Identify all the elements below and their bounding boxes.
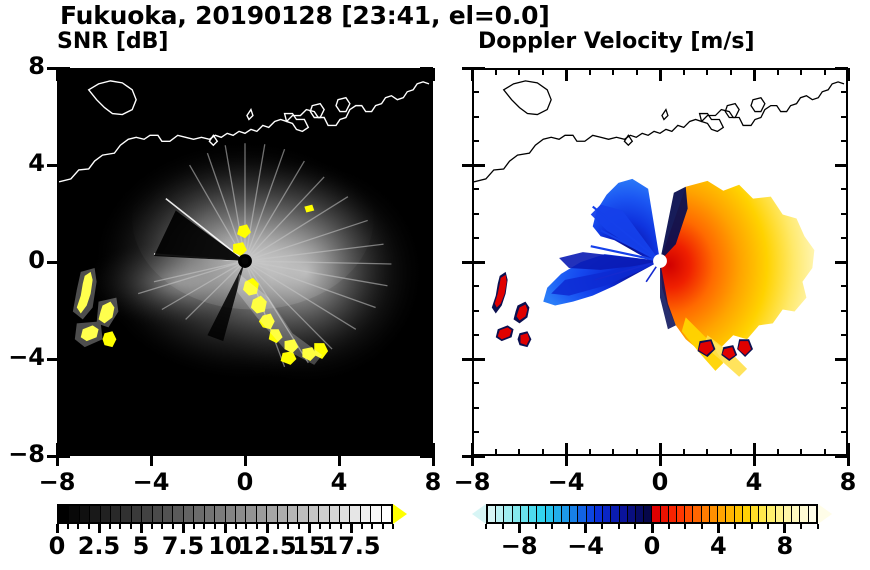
- y-tick: [472, 116, 479, 118]
- snr-colorbar-cell: [330, 506, 340, 522]
- y-tick: [426, 382, 433, 384]
- snr-colorbar-tick: [245, 524, 247, 529]
- x-tick: [824, 449, 826, 456]
- y-tick: [420, 261, 433, 264]
- x-tick: [730, 449, 732, 456]
- doppler-colorbar-cell: [685, 506, 693, 522]
- doppler-colorbar-cell: [644, 506, 652, 522]
- x-tick-outer: [847, 456, 850, 466]
- x-tick: [706, 449, 708, 456]
- snr-colorbar-tick: [151, 524, 153, 529]
- x-tick: [683, 68, 685, 75]
- x-tick-outer: [150, 456, 153, 466]
- y-axis-tick-label: −8: [0, 440, 45, 468]
- snr-colorbar-tick: [119, 524, 121, 529]
- x-tick: [80, 68, 82, 75]
- doppler-colorbar-label: 8: [745, 532, 825, 560]
- y-tick: [57, 91, 64, 93]
- y-tick-outer: [47, 67, 57, 70]
- x-tick: [706, 68, 708, 75]
- doppler-colorbar-cell: [800, 506, 808, 522]
- snr-colorbar-cell: [319, 506, 329, 522]
- y-tick: [841, 188, 848, 190]
- x-axis-tick-label: −8: [17, 468, 97, 496]
- doppler-colorbar-cell: [595, 506, 603, 522]
- x-axis-tick-label: 0: [620, 468, 700, 496]
- y-tick: [420, 358, 433, 361]
- x-tick: [589, 68, 591, 75]
- snr-colorbar-tick: [161, 524, 163, 529]
- snr-colorbar-cell: [184, 506, 194, 522]
- x-tick: [777, 68, 779, 75]
- snr-colorbar-cell: [350, 506, 360, 522]
- y-tick: [835, 67, 848, 70]
- doppler-colorbar-tick: [800, 524, 802, 529]
- y-axis-tick-label: −4: [0, 343, 45, 371]
- y-tick: [57, 261, 70, 264]
- doppler-colorbar-cell: [784, 506, 792, 522]
- y-tick: [57, 334, 64, 336]
- x-tick: [565, 443, 568, 456]
- y-axis-tick-label: 8: [0, 52, 45, 80]
- doppler-colorbar-cell: [726, 506, 734, 522]
- snr-colorbar-cell: [121, 506, 131, 522]
- x-tick-outer: [471, 456, 474, 466]
- snr-colorbar-cell: [163, 506, 173, 522]
- x-tick: [221, 449, 223, 456]
- x-axis-tick-label: 8: [808, 468, 870, 496]
- snr-colorbar-tick: [77, 524, 79, 529]
- x-tick: [800, 449, 802, 456]
- snr-radar-image: [59, 70, 431, 454]
- x-tick-outer: [56, 456, 59, 466]
- doppler-colorbar-cell: [636, 506, 644, 522]
- doppler-plot-area[interactable]: [472, 68, 848, 456]
- x-tick: [659, 68, 662, 81]
- x-axis-tick-label: −8: [432, 468, 512, 496]
- snr-colorbar-cell: [215, 506, 225, 522]
- snr-colorbar-cell: [236, 506, 246, 522]
- y-tick: [57, 285, 64, 287]
- x-tick: [385, 449, 387, 456]
- y-tick: [426, 91, 433, 93]
- doppler-colorbar-cell: [537, 506, 545, 522]
- doppler-colorbar-cell: [562, 506, 570, 522]
- x-tick: [612, 449, 614, 456]
- snr-colorbar-tick: [392, 524, 394, 529]
- y-tick: [420, 164, 433, 167]
- doppler-colorbar-cell: [735, 506, 743, 522]
- doppler-colorbar-cell: [546, 506, 554, 522]
- snr-colorbar-tick: [329, 524, 331, 529]
- doppler-colorbar-tick: [502, 524, 504, 529]
- doppler-colorbar-tick: [817, 524, 819, 529]
- x-tick-outer: [432, 456, 435, 466]
- snr-colorbar-cell: [142, 506, 152, 522]
- doppler-colorbar-tick: [551, 524, 553, 529]
- x-tick: [659, 443, 662, 456]
- snr-colorbar-tick: [235, 524, 237, 529]
- doppler-colorbar-cell: [578, 506, 586, 522]
- x-tick: [174, 449, 176, 456]
- x-tick: [127, 68, 129, 75]
- x-tick: [542, 449, 544, 456]
- x-tick: [291, 68, 293, 75]
- snr-plot-area[interactable]: [57, 68, 433, 456]
- y-tick: [57, 455, 70, 458]
- snr-colorbar-cell: [288, 506, 298, 522]
- x-tick: [518, 68, 520, 75]
- y-tick: [57, 213, 64, 215]
- x-tick: [291, 449, 293, 456]
- x-tick: [244, 68, 247, 81]
- x-tick: [268, 449, 270, 456]
- y-tick: [841, 285, 848, 287]
- x-tick: [683, 449, 685, 456]
- x-tick: [197, 449, 199, 456]
- y-tick: [57, 431, 64, 433]
- y-tick: [426, 140, 433, 142]
- x-tick: [150, 443, 153, 456]
- y-tick: [841, 310, 848, 312]
- doppler-colorbar-cell: [669, 506, 677, 522]
- y-tick: [472, 140, 479, 142]
- x-axis-tick-label: −4: [111, 468, 191, 496]
- y-tick: [472, 261, 485, 264]
- x-tick: [753, 68, 756, 81]
- y-tick: [57, 188, 64, 190]
- x-tick: [409, 68, 411, 75]
- snr-colorbar-cell: [101, 506, 111, 522]
- doppler-colorbar-cell: [504, 506, 512, 522]
- doppler-colorbar-cell: [661, 506, 669, 522]
- y-tick: [841, 382, 848, 384]
- x-tick: [753, 443, 756, 456]
- y-tick-outer: [462, 455, 472, 458]
- snr-panel-title: SNR [dB]: [57, 29, 168, 54]
- x-tick-outer: [753, 456, 756, 466]
- doppler-colorbar-tick: [601, 524, 603, 529]
- doppler-colorbar-under-arrow: [472, 504, 486, 524]
- x-tick: [636, 449, 638, 456]
- doppler-colorbar-tick: [485, 524, 487, 529]
- y-tick: [472, 407, 479, 409]
- y-tick-outer: [462, 164, 472, 167]
- y-tick: [57, 164, 70, 167]
- x-tick-outer: [565, 456, 568, 466]
- doppler-colorbar-cell: [628, 506, 636, 522]
- doppler-colorbar-cell: [529, 506, 537, 522]
- snr-colorbar[interactable]: [57, 504, 405, 524]
- x-tick: [244, 443, 247, 456]
- x-tick: [824, 68, 826, 75]
- y-tick-outer: [462, 67, 472, 70]
- y-tick: [426, 285, 433, 287]
- x-tick: [103, 449, 105, 456]
- y-tick: [841, 237, 848, 239]
- snr-colorbar-cell: [80, 506, 90, 522]
- y-tick: [472, 285, 479, 287]
- y-tick: [426, 334, 433, 336]
- x-tick: [56, 68, 59, 81]
- y-tick: [835, 358, 848, 361]
- x-tick: [315, 68, 317, 75]
- snr-colorbar-tick: [319, 524, 321, 529]
- snr-colorbar-label: 17.5: [311, 532, 391, 560]
- snr-colorbar-tick: [172, 524, 174, 529]
- snr-colorbar-tick: [287, 524, 289, 529]
- x-tick: [847, 68, 850, 81]
- doppler-colorbar-cell: [611, 506, 619, 522]
- x-tick: [542, 68, 544, 75]
- doppler-colorbar-cell: [792, 506, 800, 522]
- y-tick: [472, 334, 479, 336]
- snr-colorbar-tick: [130, 524, 132, 529]
- y-tick: [426, 431, 433, 433]
- x-tick: [589, 449, 591, 456]
- snr-colorbar-tick: [256, 524, 258, 529]
- y-tick: [841, 116, 848, 118]
- y-tick: [426, 237, 433, 239]
- doppler-colorbar-cell: [652, 506, 660, 522]
- snr-colorbar-cell: [257, 506, 267, 522]
- x-axis-tick-label: −4: [526, 468, 606, 496]
- snr-colorbar-cell: [90, 506, 100, 522]
- x-axis-tick-label: 4: [714, 468, 794, 496]
- y-tick-outer: [47, 164, 57, 167]
- snr-colorbar-cell: [278, 506, 288, 522]
- x-tick: [197, 68, 199, 75]
- doppler-colorbar-cell: [513, 506, 521, 522]
- doppler-colorbar-cell: [677, 506, 685, 522]
- y-tick: [472, 310, 479, 312]
- x-tick: [315, 449, 317, 456]
- snr-colorbar-cell: [246, 506, 256, 522]
- snr-colorbar-cell: [267, 506, 277, 522]
- doppler-colorbar-cell: [570, 506, 578, 522]
- doppler-colorbar-cell: [693, 506, 701, 522]
- page-title: Fukuoka, 20190128 [23:41, el=0.0]: [60, 1, 550, 30]
- snr-colorbar-tick: [298, 524, 300, 529]
- doppler-colorbar-cell: [554, 506, 562, 522]
- y-tick: [841, 334, 848, 336]
- y-tick: [472, 431, 479, 433]
- snr-colorbar-over-arrow: [393, 504, 407, 524]
- x-tick: [362, 449, 364, 456]
- y-tick: [841, 213, 848, 215]
- doppler-colorbar-cell: [718, 506, 726, 522]
- y-tick: [57, 358, 70, 361]
- y-tick: [841, 407, 848, 409]
- snr-colorbar-tick: [203, 524, 205, 529]
- doppler-colorbar-tick: [734, 524, 736, 529]
- y-tick: [57, 382, 64, 384]
- snr-colorbar-cell: [340, 506, 350, 522]
- doppler-colorbar-cell: [767, 506, 775, 522]
- x-tick-outer: [338, 456, 341, 466]
- x-tick: [103, 68, 105, 75]
- y-tick: [472, 67, 485, 70]
- x-tick: [362, 68, 364, 75]
- snr-colorbar-cell: [111, 506, 121, 522]
- y-tick: [57, 67, 70, 70]
- x-tick: [80, 449, 82, 456]
- snr-colorbar-cell: [194, 506, 204, 522]
- y-tick-outer: [47, 261, 57, 264]
- snr-colorbar-cell: [59, 506, 69, 522]
- x-tick: [565, 68, 568, 81]
- snr-colorbar-cell: [173, 506, 183, 522]
- doppler-colorbar-over-arrow: [818, 504, 832, 524]
- doppler-colorbar-cell: [587, 506, 595, 522]
- radar-figure: Fukuoka, 20190128 [23:41, el=0.0] SNR [d…: [0, 0, 870, 570]
- y-tick: [426, 116, 433, 118]
- doppler-colorbar-tick: [767, 524, 769, 529]
- doppler-colorbar-cell: [702, 506, 710, 522]
- snr-colorbar-tick: [361, 524, 363, 529]
- x-tick: [432, 68, 435, 81]
- x-tick: [150, 68, 153, 81]
- y-tick-outer: [47, 358, 57, 361]
- y-tick: [835, 164, 848, 167]
- doppler-colorbar-tick: [668, 524, 670, 529]
- snr-colorbar-tick: [67, 524, 69, 529]
- snr-colorbar-tick: [214, 524, 216, 529]
- y-tick: [472, 358, 485, 361]
- snr-colorbar-cell: [226, 506, 236, 522]
- x-axis-tick-label: 0: [205, 468, 285, 496]
- snr-colorbar-tick: [382, 524, 384, 529]
- snr-colorbar-cell: [309, 506, 319, 522]
- doppler-colorbar-tick: [684, 524, 686, 529]
- snr-colorbar-cell: [132, 506, 142, 522]
- y-tick-outer: [47, 455, 57, 458]
- doppler-colorbar-cell: [603, 506, 611, 522]
- x-tick-outer: [244, 456, 247, 466]
- y-axis-tick-label: 0: [0, 246, 45, 274]
- doppler-panel-title: Doppler Velocity [m/s]: [478, 29, 755, 54]
- doppler-radar-image: [474, 70, 846, 454]
- doppler-colorbar-cell: [488, 506, 496, 522]
- x-axis-tick-label: 4: [299, 468, 379, 496]
- doppler-colorbar-tick: [634, 524, 636, 529]
- y-tick: [57, 407, 64, 409]
- doppler-colorbar-cell: [751, 506, 759, 522]
- x-tick: [777, 449, 779, 456]
- y-tick: [472, 455, 485, 458]
- doppler-colorbar-tick: [535, 524, 537, 529]
- snr-colorbar-cell: [298, 506, 308, 522]
- y-tick: [841, 91, 848, 93]
- y-tick: [841, 431, 848, 433]
- doppler-colorbar-cell: [759, 506, 767, 522]
- y-tick: [841, 140, 848, 142]
- y-tick-outer: [462, 358, 472, 361]
- x-tick: [636, 68, 638, 75]
- x-tick: [174, 68, 176, 75]
- x-tick: [495, 449, 497, 456]
- y-tick: [57, 237, 64, 239]
- snr-colorbar-tick: [109, 524, 111, 529]
- y-tick: [472, 164, 485, 167]
- y-tick-outer: [462, 261, 472, 264]
- doppler-colorbar-cell: [809, 506, 816, 522]
- doppler-colorbar-cell: [776, 506, 784, 522]
- snr-colorbar-tick: [371, 524, 373, 529]
- x-tick: [471, 68, 474, 81]
- x-tick: [730, 68, 732, 75]
- y-tick: [426, 213, 433, 215]
- y-tick: [472, 91, 479, 93]
- y-tick: [472, 213, 479, 215]
- x-tick: [221, 68, 223, 75]
- doppler-colorbar-tick: [751, 524, 753, 529]
- doppler-colorbar-cell: [496, 506, 504, 522]
- y-tick: [472, 237, 479, 239]
- y-tick: [835, 261, 848, 264]
- x-tick: [338, 68, 341, 81]
- doppler-colorbar-tick: [701, 524, 703, 529]
- y-tick: [426, 310, 433, 312]
- x-tick: [800, 68, 802, 75]
- x-tick: [518, 449, 520, 456]
- snr-colorbar-cell: [205, 506, 215, 522]
- x-tick: [127, 449, 129, 456]
- y-tick: [420, 67, 433, 70]
- y-tick: [57, 140, 64, 142]
- snr-colorbar-tick: [340, 524, 342, 529]
- snr-colorbar-cell: [361, 506, 371, 522]
- doppler-colorbar-cell: [743, 506, 751, 522]
- x-tick: [268, 68, 270, 75]
- doppler-colorbar-cell: [521, 506, 529, 522]
- snr-colorbar-tick: [193, 524, 195, 529]
- snr-colorbar-tick: [88, 524, 90, 529]
- snr-colorbar-cell: [371, 506, 381, 522]
- y-tick: [57, 310, 64, 312]
- x-tick: [612, 68, 614, 75]
- x-tick: [338, 443, 341, 456]
- x-tick: [409, 449, 411, 456]
- snr-colorbar-cell: [69, 506, 79, 522]
- doppler-colorbar[interactable]: [472, 504, 832, 524]
- x-tick: [495, 68, 497, 75]
- x-tick-outer: [659, 456, 662, 466]
- doppler-colorbar-tick: [618, 524, 620, 529]
- doppler-colorbar-cell: [620, 506, 628, 522]
- snr-colorbar-cell: [382, 506, 391, 522]
- y-tick: [426, 407, 433, 409]
- doppler-colorbar-tick: [568, 524, 570, 529]
- y-axis-tick-label: 4: [0, 149, 45, 177]
- y-tick: [426, 188, 433, 190]
- snr-colorbar-tick: [277, 524, 279, 529]
- snr-colorbar-cell: [153, 506, 163, 522]
- x-tick: [385, 68, 387, 75]
- y-tick: [57, 116, 64, 118]
- y-tick: [472, 382, 479, 384]
- doppler-colorbar-cell: [710, 506, 718, 522]
- y-tick: [472, 188, 479, 190]
